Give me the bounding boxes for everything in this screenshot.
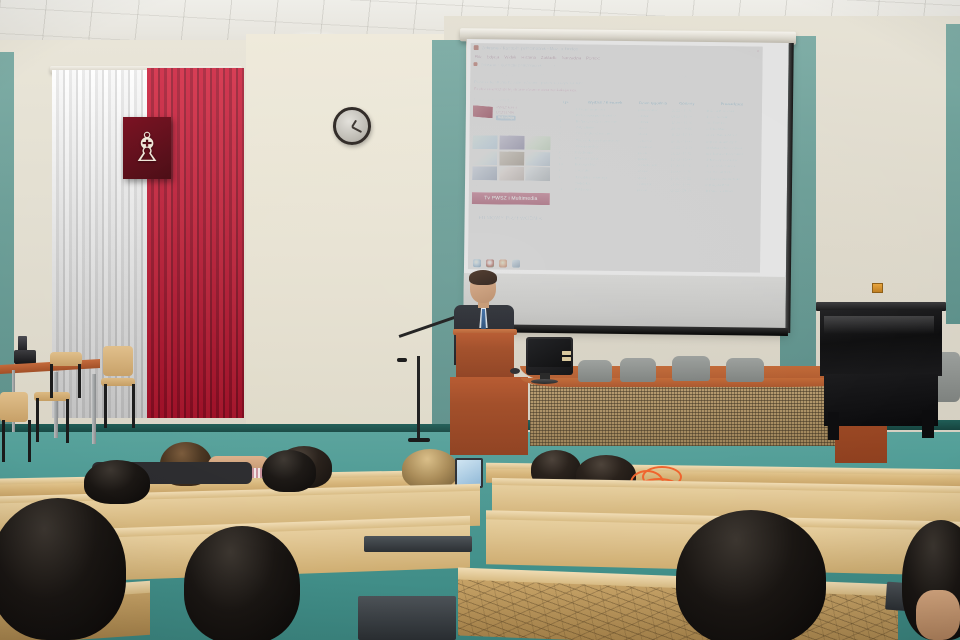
recruitment-button[interactable]: Rekrutacja bbox=[496, 116, 516, 120]
eagle-icon: ♗ bbox=[123, 117, 171, 179]
back-arrow-icon[interactable] bbox=[474, 71, 480, 77]
menu-bookmarks[interactable]: Zakladki bbox=[541, 54, 557, 59]
camera bbox=[14, 350, 36, 364]
audience-head bbox=[402, 449, 458, 489]
stacking-chair-back bbox=[0, 392, 28, 422]
chair-leg bbox=[132, 384, 135, 428]
table-cell: dr Pawel Zielinski bbox=[703, 188, 758, 195]
window-controls[interactable]: – □ ✕ bbox=[748, 48, 759, 54]
power-outlet bbox=[872, 283, 883, 293]
audience-head bbox=[262, 450, 316, 492]
lecture-hall-photo: ♗ Zebranie / Kontrolni pelnomocnik - Moz… bbox=[0, 0, 960, 640]
consultation-schedule-table: Lp. Wydzial / Kierunek Dzien tygodnia Go… bbox=[556, 97, 760, 195]
monitor-label-badge bbox=[562, 357, 571, 361]
table-body: 1Filologia angielskaponiedzialek10:00 - … bbox=[556, 106, 759, 195]
table-cell: Politologia bbox=[573, 186, 636, 193]
firefox-icon[interactable] bbox=[499, 259, 507, 267]
browser-tab-label[interactable]: Zebranie / Kontrolni pelnomocnik bbox=[480, 62, 541, 68]
audience-head bbox=[84, 460, 150, 504]
table-cell: 14 bbox=[556, 186, 573, 192]
menu-file[interactable]: Plik bbox=[475, 54, 482, 59]
table-leg bbox=[54, 372, 58, 438]
windows-taskbar[interactable] bbox=[468, 256, 763, 273]
piano-leg bbox=[828, 412, 839, 440]
stacking-chair-back bbox=[103, 346, 133, 376]
home-icon[interactable] bbox=[732, 74, 738, 80]
schedule-table-wrapper: Lp. Wydzial / Kierunek Dzien tygodnia Go… bbox=[553, 94, 762, 269]
gallery-thumb[interactable] bbox=[499, 167, 524, 181]
clock-hand-minute bbox=[352, 126, 362, 132]
search-input[interactable]: Szukaj bbox=[674, 72, 728, 82]
new-tab-button[interactable]: + bbox=[551, 62, 560, 69]
microphone-stand-base bbox=[408, 438, 430, 442]
audience-face-partial bbox=[916, 590, 960, 640]
table-cell: 08:00 - 09:30 bbox=[668, 187, 703, 194]
table-leg bbox=[92, 374, 96, 444]
sidebar-note: Terminy spotkan z wykladowcami w semestr… bbox=[473, 123, 551, 133]
pwsz-logo-icon bbox=[473, 105, 493, 118]
chrome-icon[interactable] bbox=[486, 259, 494, 267]
chair-leg bbox=[36, 398, 39, 442]
media-icon[interactable] bbox=[512, 259, 520, 267]
desk-mesh-panel bbox=[530, 384, 860, 446]
gallery-thumb[interactable] bbox=[525, 167, 550, 181]
gallery-thumb[interactable] bbox=[472, 151, 497, 165]
chair-leg bbox=[66, 399, 69, 443]
audience-head-foreground bbox=[676, 510, 826, 640]
tab-favicon-icon bbox=[473, 62, 477, 66]
gallery-thumb[interactable] bbox=[472, 166, 497, 180]
computer-mouse bbox=[510, 368, 520, 374]
gallery-caption: Galeria bbox=[472, 183, 550, 189]
menu-edit[interactable]: Edycja bbox=[486, 54, 499, 59]
table-row: 14Politologiapiatek08:00 - 09:30dr Pawel… bbox=[556, 186, 758, 195]
photo-gallery[interactable] bbox=[472, 135, 551, 181]
gallery-thumb[interactable] bbox=[499, 136, 524, 150]
chair-leg bbox=[104, 384, 107, 428]
camera-flash bbox=[18, 336, 27, 351]
bench-bracket bbox=[364, 536, 472, 552]
firefox-icon bbox=[474, 45, 479, 50]
film-guide-caption: FILMOWY PRZEWODNIK bbox=[472, 215, 550, 222]
menu-help[interactable]: Pomoc bbox=[586, 55, 599, 60]
polish-eagle-emblem: ♗ bbox=[123, 117, 171, 179]
microphone-head-icon bbox=[397, 358, 407, 362]
bench-bracket bbox=[358, 596, 456, 640]
sidebar-heading: Zapisz sie na konsultacje bbox=[473, 97, 551, 103]
page-sidebar: Zapisz sie na konsultacje PWSZ Konin UCZ… bbox=[468, 93, 555, 266]
internet-explorer-icon[interactable] bbox=[473, 259, 481, 267]
chair-leg bbox=[2, 420, 5, 462]
desktop-monitor bbox=[526, 337, 573, 375]
menu-tools[interactable]: Narzedzia bbox=[562, 55, 581, 60]
wall-back-center bbox=[246, 34, 446, 464]
chair-leg bbox=[78, 364, 81, 398]
film-guide-block[interactable]: FILMOWY PRZEWODNIK bbox=[472, 208, 550, 222]
upright-piano bbox=[820, 310, 942, 376]
page-content: Zapisz sie na konsultacje PWSZ Konin UCZ… bbox=[468, 93, 762, 269]
gallery-thumb[interactable] bbox=[525, 151, 550, 165]
piano-lower-panel bbox=[824, 374, 938, 426]
wall-clock bbox=[333, 107, 371, 145]
monitor-label-badge bbox=[562, 351, 571, 355]
panel-chair bbox=[578, 360, 612, 382]
microphone-stand-pole bbox=[417, 356, 420, 441]
projected-browser-window: Zebranie / Kontrolni pelnomocnik - Mozil… bbox=[468, 43, 763, 273]
podium bbox=[456, 333, 514, 377]
panel-chair bbox=[672, 356, 710, 381]
tv-pwsz-banner[interactable]: Tv PWSZ i Multimedia bbox=[472, 192, 550, 205]
browser-window-title: Zebranie / Kontrolni pelnomocnik - Mozil… bbox=[482, 45, 578, 51]
audience-head-foreground bbox=[0, 498, 126, 640]
forward-arrow-icon[interactable] bbox=[484, 71, 490, 77]
university-logo-block: PWSZ Konin UCZELNIA Rekrutacja bbox=[473, 105, 551, 121]
chair-leg bbox=[28, 420, 31, 462]
presenter-hair bbox=[469, 270, 497, 285]
menu-history[interactable]: Historia bbox=[521, 54, 536, 59]
gallery-thumb[interactable] bbox=[472, 135, 497, 149]
logo-text: PWSZ Konin UCZELNIA Rekrutacja bbox=[496, 105, 517, 120]
chair-leg bbox=[50, 364, 53, 398]
table-cell: piatek bbox=[635, 187, 668, 194]
menu-icon[interactable] bbox=[752, 74, 758, 80]
gallery-thumb[interactable] bbox=[499, 151, 524, 165]
piano-leg bbox=[922, 410, 934, 438]
audience-head-foreground bbox=[184, 526, 300, 640]
panel-chair bbox=[620, 358, 656, 382]
menu-view[interactable]: Widok bbox=[504, 54, 516, 59]
teal-pillar-far-right bbox=[946, 24, 960, 324]
col-lp: Lp. bbox=[557, 98, 574, 106]
panel-chair bbox=[726, 358, 764, 382]
gallery-thumb[interactable] bbox=[525, 136, 550, 150]
desk-front-left-panel bbox=[450, 377, 528, 455]
monitor-base bbox=[531, 379, 558, 384]
bookmark-icon[interactable] bbox=[742, 74, 748, 80]
